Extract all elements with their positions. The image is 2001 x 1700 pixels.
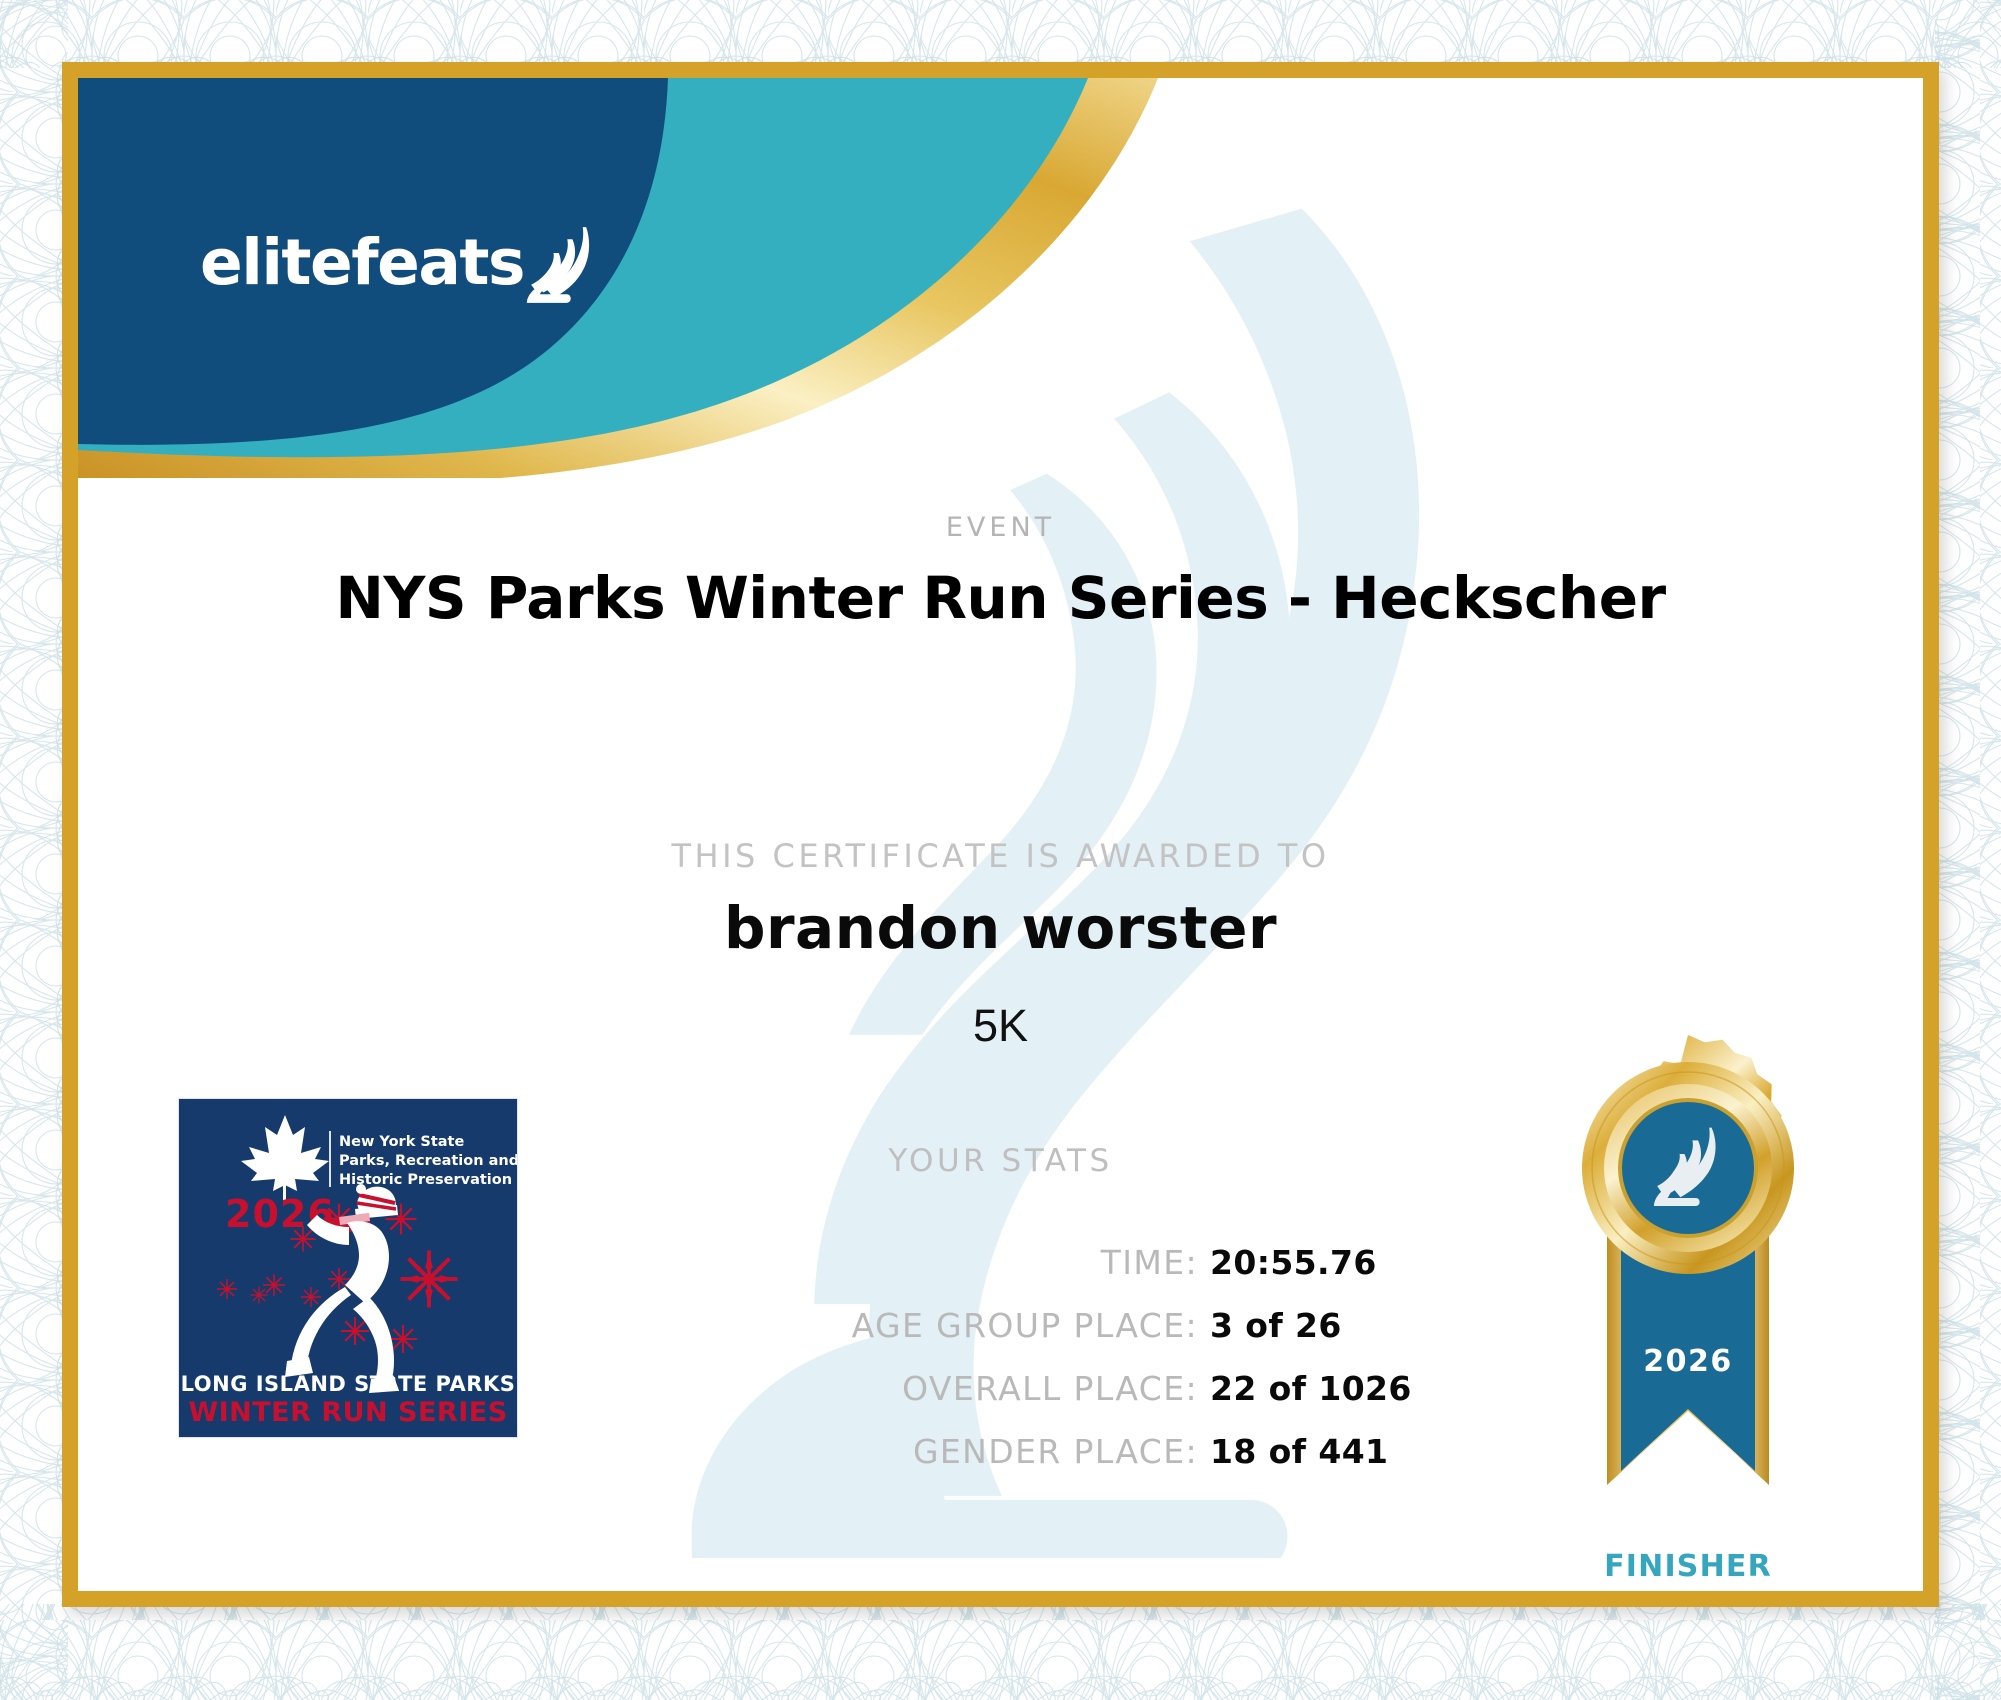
event-series-logo: New York State Parks, Recreation and His… [178,1098,518,1438]
awarded-to-label: THIS CERTIFICATE IS AWARDED TO [78,837,1923,875]
agency-line-3: Historic Preservation [339,1172,512,1188]
agency-line-1: New York State [339,1134,464,1150]
finisher-caption-line-1: FINISHER [1478,1548,1898,1586]
event-title: NYS Parks Winter Run Series - Heckscher [78,564,1923,632]
stat-value-overall-place: 22 of 1026 [1210,1369,1412,1408]
stat-value-age-group-place: 3 of 26 [1210,1306,1342,1345]
medal-disc [1582,1035,1794,1274]
finisher-certificate-caption: FINISHER CERTIFICATE [1478,1548,1898,1591]
elitefeats-logo: elitefeats [200,206,600,318]
certificate-body: elitefeats EVENT NYS Parks Winter Run Se… [78,78,1923,1591]
agency-line-2: Parks, Recreation and [339,1153,517,1169]
winged-foot-icon [526,219,600,311]
medal-year: 2026 [1643,1344,1733,1379]
series-line-2: WINTER RUN SERIES [188,1397,507,1428]
finisher-medal: 2026 [1533,1033,1843,1513]
recipient-name: brandon worster [78,894,1923,962]
event-label: EVENT [78,512,1923,543]
stat-value-gender-place: 18 of 441 [1210,1432,1388,1471]
series-line-1: LONG ISLAND STATE PARKS [181,1372,516,1396]
finisher-caption-line-2: CERTIFICATE [1478,1586,1898,1591]
stat-value-time: 20:55.76 [1210,1243,1377,1282]
certificate-frame: elitefeats EVENT NYS Parks Winter Run Se… [62,62,1939,1607]
brand-wordmark: elitefeats [200,231,524,294]
certificate-page: elitefeats EVENT NYS Parks Winter Run Se… [0,0,2001,1700]
